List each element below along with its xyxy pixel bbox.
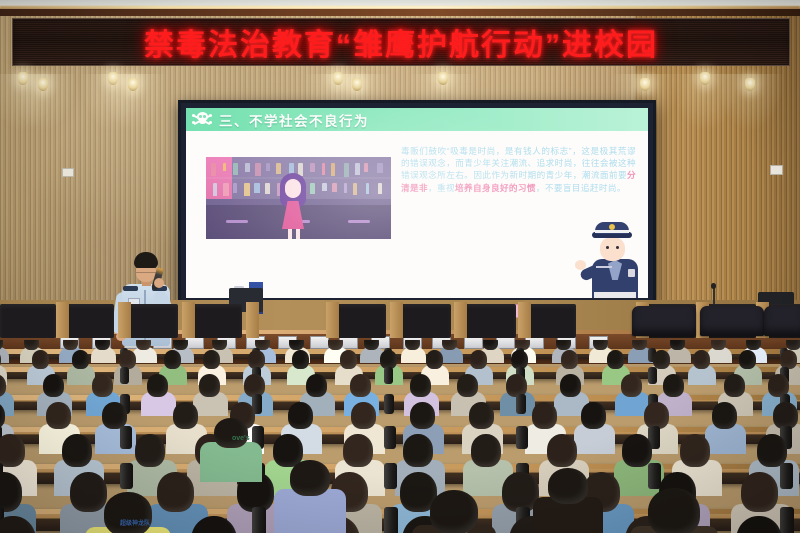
led-banner: 禁毒法治教育“雏鹰护航行动”进校园 xyxy=(12,18,790,66)
skull-and-crossbones-icon xyxy=(194,112,211,127)
cartoon-police-officer xyxy=(584,222,646,298)
slide-title: 三、不学社会不良行为 xyxy=(219,110,369,130)
green-shirt-text: ove's xyxy=(232,435,250,442)
student-audience: ove's 超级神龙队 xyxy=(0,340,800,533)
slide-text-part1: 毒贩们鼓吹“吸毒是时尚，是有钱人的标志”，这是极其荒谬的错误观念，而青少年关注潮… xyxy=(401,146,636,180)
wall-switch-right[interactable] xyxy=(770,165,783,175)
bar-scene-illustration xyxy=(206,157,391,239)
slide-text-part2: ，重视 xyxy=(428,183,455,193)
wall-switch-left[interactable] xyxy=(62,168,74,177)
slide-text-part3: ，不要盲目追赶时尚。 xyxy=(536,183,626,193)
slide-text-highlight2: 培养自身良好的习惯 xyxy=(455,183,536,193)
jersey-text: 超级神龙队 xyxy=(120,518,150,527)
ceiling-wood-trim xyxy=(0,9,800,16)
slide-body: 毒贩们鼓吹“吸毒是时尚，是有钱人的标志”，这是极其荒谬的错误观念，而青少年关注潮… xyxy=(186,131,648,298)
desk-microphone xyxy=(711,283,716,289)
slide-header: 三、不学社会不良行为 xyxy=(186,108,648,131)
girl-face xyxy=(285,179,301,198)
projection-screen: 三、不学社会不良行为 xyxy=(178,100,656,306)
presentation-slide: 三、不学社会不良行为 xyxy=(186,108,648,298)
led-banner-text: 禁毒法治教育“雏鹰护航行动”进校园 xyxy=(144,20,658,64)
auditorium-photo: 禁毒法治教育“雏鹰护航行动”进校园 三、不学社会 xyxy=(0,0,800,533)
